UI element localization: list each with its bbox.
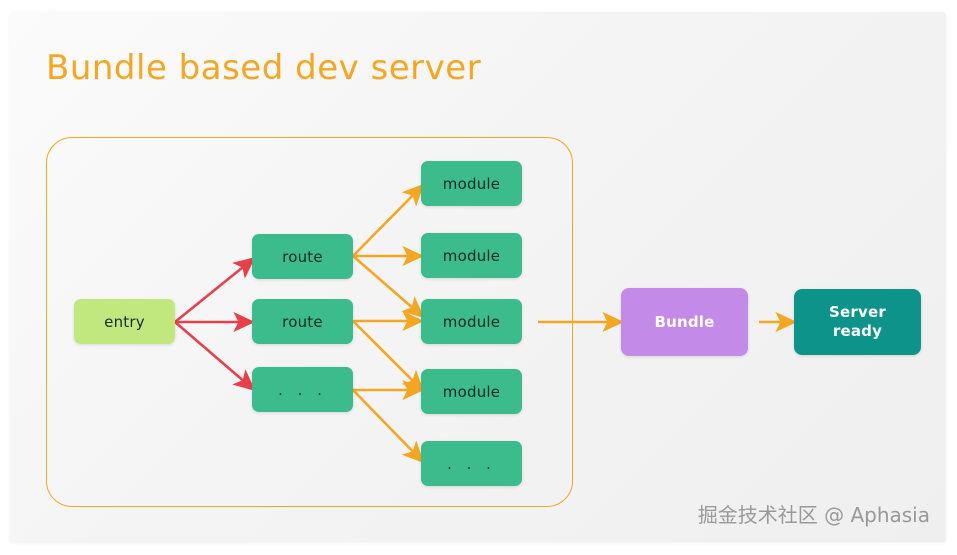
node-module-2[interactable]: module	[421, 233, 522, 278]
node-server-ready-label-line2: ready	[833, 322, 882, 341]
node-bundle[interactable]: Bundle	[621, 288, 748, 356]
slide-panel: Bundle based dev server	[10, 12, 946, 542]
node-module-3-label: module	[443, 313, 500, 331]
node-route-2-label: route	[282, 313, 323, 331]
node-module-3[interactable]: module	[421, 299, 522, 344]
node-bundle-label: Bundle	[654, 313, 714, 331]
node-server-ready[interactable]: Server ready	[794, 289, 921, 355]
node-module-1-label: module	[443, 175, 500, 193]
node-route-1-label: route	[282, 248, 323, 266]
watermark: 掘金技术社区 @ Aphasia	[698, 499, 930, 528]
node-route-1[interactable]: route	[252, 234, 353, 279]
slide-canvas: Bundle based dev server	[0, 0, 957, 555]
node-server-ready-label-line1: Server	[829, 303, 886, 322]
node-route-ellipsis[interactable]: . . .	[252, 367, 353, 412]
node-route-ellipsis-label: . . .	[278, 381, 327, 399]
node-module-2-label: module	[443, 247, 500, 265]
node-module-ellipsis-label: . . .	[447, 455, 496, 473]
node-module-4-label: module	[443, 383, 500, 401]
node-entry-label: entry	[104, 313, 145, 331]
node-route-2[interactable]: route	[252, 299, 353, 344]
node-module-4[interactable]: module	[421, 369, 522, 414]
node-entry[interactable]: entry	[74, 299, 175, 344]
node-module-ellipsis[interactable]: . . .	[421, 441, 522, 486]
page-title: Bundle based dev server	[46, 48, 481, 88]
node-module-1[interactable]: module	[421, 161, 522, 206]
